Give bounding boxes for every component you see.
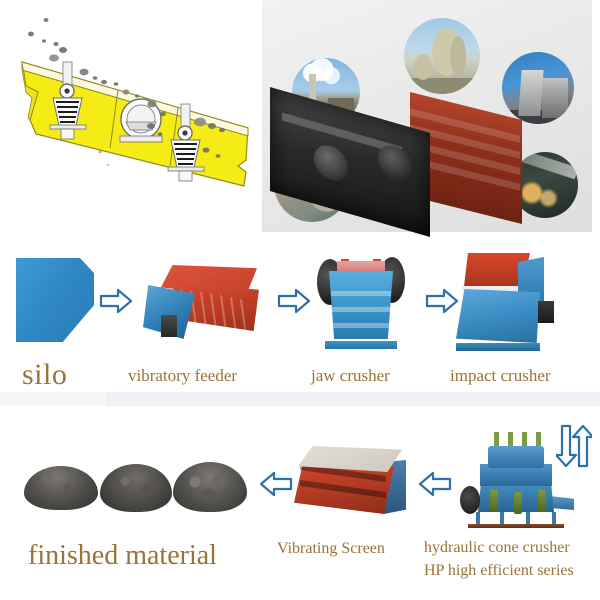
middle-row-band-inner (106, 392, 600, 406)
label-cone-crusher-line2: HP high efficient series (424, 562, 574, 580)
label-vibratory-feeder: vibratory feeder (128, 366, 237, 386)
label-jaw-crusher: jaw crusher (311, 366, 390, 386)
photo-main-vibrating-screen (270, 104, 510, 222)
vibratory-feeder-machine (143, 263, 259, 341)
pile-fine (24, 466, 98, 510)
label-silo: silo (22, 358, 67, 392)
pile-coarse (173, 462, 247, 512)
photo-circle-cement-plant (404, 18, 480, 94)
label-impact-crusher: impact crusher (450, 366, 551, 386)
flow-diagram-canvas: silo vibratory feeder jaw crusher impact… (0, 0, 600, 600)
arrow-right-icon-feeder-to-jaw (277, 287, 311, 315)
vibrating-screen-technical-drawing (0, 0, 262, 236)
vibrating-screen-machine (294, 446, 406, 522)
photo-circle-steel-structure (502, 52, 574, 124)
pile-medium (100, 464, 172, 512)
jaw-crusher-machine (315, 253, 407, 349)
arrow-right-icon-silo-to-feeder (99, 287, 133, 315)
application-photo-collage (262, 0, 592, 232)
arrow-left-icon-cone-to-screen (418, 470, 452, 498)
impact-crusher-machine (452, 253, 552, 351)
arrow-left-icon-screen-to-material (259, 470, 293, 498)
silo-shape (16, 258, 94, 342)
label-vibrating-screen: Vibrating Screen (277, 540, 385, 558)
label-finished-material: finished material (28, 540, 217, 572)
label-cone-crusher-line1: hydraulic cone crusher (424, 539, 570, 557)
arrow-up-down-icon (556, 424, 592, 468)
